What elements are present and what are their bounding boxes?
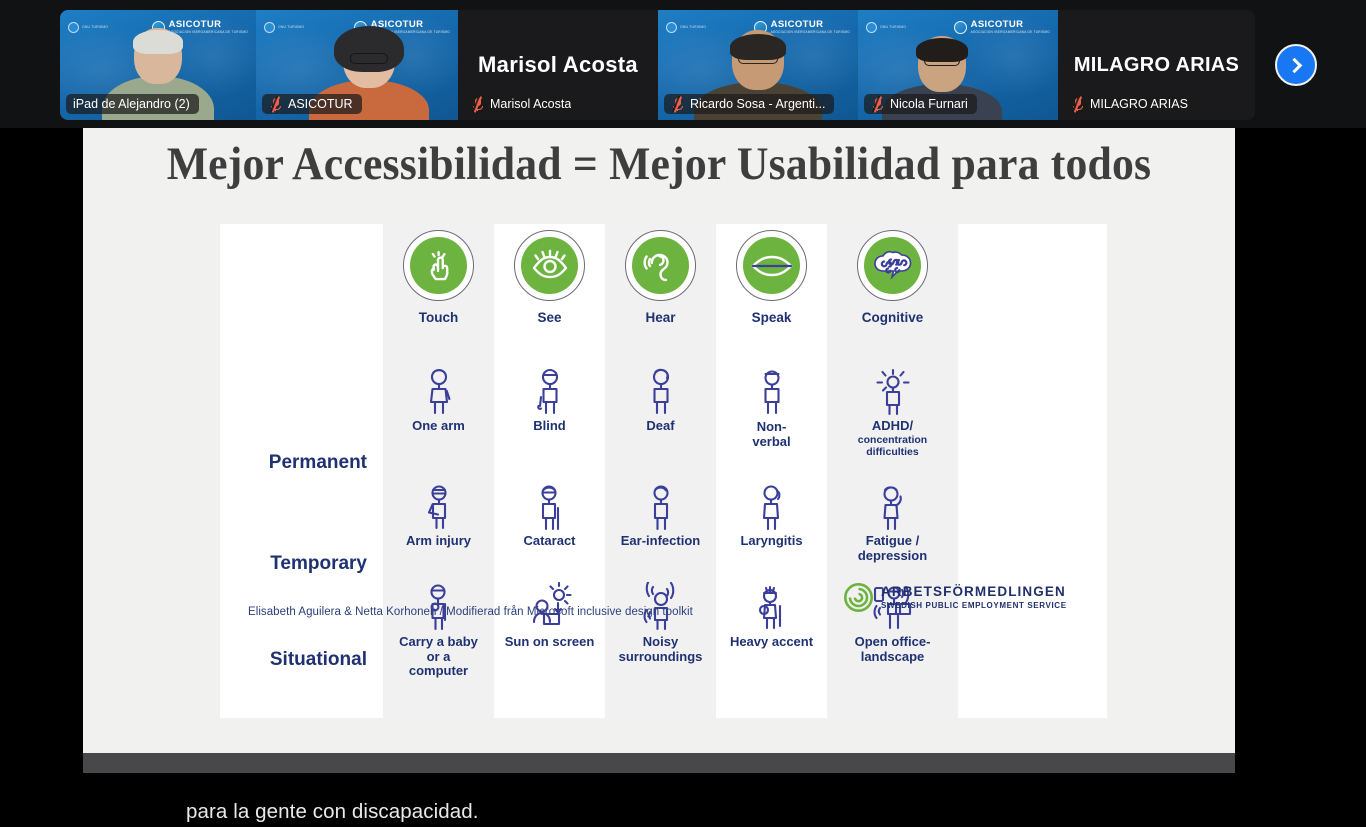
participant-tile-6[interactable]: MILAGRO ARIAS MILAGRO ARIAS bbox=[1058, 10, 1255, 120]
hair-shape bbox=[334, 26, 404, 72]
participant-tile-5[interactable]: ONU TURISMO ASICOTUR ASOCIACION IBEROAME… bbox=[858, 10, 1058, 120]
matrix-column-speak: Speak Non-verbal bbox=[716, 224, 827, 718]
globe-icon bbox=[954, 21, 967, 34]
onu-turismo-logo: ONU TURISMO bbox=[264, 22, 304, 33]
person-cane-icon bbox=[527, 364, 573, 416]
live-caption-text: para la gente con discapacidad. bbox=[186, 800, 479, 824]
arbetsformedlingen-logo: ARBETSFÖRMEDLINGEN SWEDISH PUBLIC EMPLOY… bbox=[844, 583, 1067, 612]
matrix-cell-touch-permanent: One arm bbox=[383, 364, 494, 479]
person-fatigue-icon bbox=[869, 479, 917, 531]
matrix-column-cognitive: Cognitive ADHD/ concentration bbox=[827, 224, 958, 718]
participant-name: Ricardo Sosa - Argenti... bbox=[690, 97, 825, 111]
tile-brand-bar: ONU TURISMO ASICOTUR ASOCIACION IBEROAME… bbox=[858, 10, 1058, 40]
onu-turismo-label: ONU TURISMO bbox=[278, 25, 304, 29]
cell-caption: ADHD/ bbox=[870, 419, 915, 434]
matrix-cell-hear-temporary: Ear-infection bbox=[605, 479, 716, 580]
asicotur-label: ASICOTUR bbox=[771, 20, 850, 30]
logo-name: ARBETSFÖRMEDLINGEN bbox=[881, 585, 1067, 599]
ear-icon bbox=[632, 237, 689, 294]
matrix-cell-touch-temporary: Arm injury bbox=[383, 479, 494, 580]
presentation-slide: Mejor Accessibilidad = Mejor Usabilidad … bbox=[83, 128, 1235, 753]
participant-tile-1[interactable]: ONU TURISMO ASICOTUR ASOCIACION IBEROAME… bbox=[60, 10, 256, 120]
person-one-arm-icon bbox=[416, 364, 462, 416]
category-header: Speak bbox=[736, 224, 807, 364]
participant-name-chip: ASICOTUR bbox=[262, 94, 362, 114]
matrix-cell-see-situational: Sun on screen bbox=[494, 580, 605, 690]
cell-caption: Ear-infection bbox=[619, 534, 702, 549]
cell-caption: Arm injury bbox=[404, 534, 473, 549]
cell-caption: Non-verbal bbox=[750, 419, 792, 450]
category-header: Hear bbox=[625, 224, 696, 364]
onu-turismo-label: ONU TURISMO bbox=[680, 25, 706, 29]
hand-tap-icon bbox=[410, 237, 467, 294]
participant-name: ASICOTUR bbox=[288, 97, 353, 111]
participant-name: MILAGRO ARIAS bbox=[1090, 97, 1188, 111]
slide-bottom-bar bbox=[83, 753, 1235, 773]
globe-icon bbox=[264, 22, 275, 33]
accessibility-matrix: Permanent Temporary Situational bbox=[220, 224, 1107, 718]
row-label-temporary: Temporary bbox=[220, 553, 383, 575]
cell-caption: One arm bbox=[410, 419, 467, 434]
category-label: Cognitive bbox=[862, 310, 924, 325]
participant-name-chip: Marisol Acosta bbox=[464, 94, 580, 114]
participant-name: Marisol Acosta bbox=[490, 97, 571, 111]
participant-name: iPad de Alejandro (2) bbox=[73, 97, 190, 111]
globe-icon bbox=[666, 22, 677, 33]
cell-caption: Deaf bbox=[644, 419, 676, 434]
hair-shape bbox=[133, 30, 183, 54]
asicotur-sublabel: ASOCIACION IBEROAMERICANA DE TURISMO bbox=[169, 30, 248, 34]
slide-title: Mejor Accessibilidad = Mejor Usabilidad … bbox=[123, 137, 1194, 191]
logo-text-block: ARBETSFÖRMEDLINGEN SWEDISH PUBLIC EMPLOY… bbox=[881, 585, 1067, 609]
cell-caption: Sun on screen bbox=[503, 635, 597, 650]
category-label: Touch bbox=[419, 310, 459, 325]
asicotur-logo: ASICOTUR ASOCIACION IBEROAMERICANA DE TU… bbox=[954, 20, 1050, 35]
next-participants-button[interactable] bbox=[1275, 44, 1317, 86]
matrix-cell-cognitive-permanent: ADHD/ concentrationdifficulties bbox=[827, 364, 958, 479]
globe-icon bbox=[866, 22, 877, 33]
chevron-right-icon bbox=[1287, 57, 1303, 73]
globe-icon bbox=[68, 22, 79, 33]
asicotur-label: ASICOTUR bbox=[971, 20, 1050, 30]
logo-tagline: SWEDISH PUBLIC EMPLOYMENT SERVICE bbox=[881, 601, 1067, 610]
person-deaf-icon bbox=[638, 364, 684, 416]
eye-icon bbox=[521, 237, 578, 294]
microphone-muted-icon bbox=[1071, 97, 1084, 111]
participant-name-chip: iPad de Alejandro (2) bbox=[66, 94, 199, 114]
matrix-cell-speak-situational: Heavy accent bbox=[716, 580, 827, 690]
cell-caption: Laryngitis bbox=[738, 534, 804, 549]
row-label-situational: Situational bbox=[220, 649, 383, 671]
category-label: Hear bbox=[645, 310, 675, 325]
microphone-muted-icon bbox=[671, 97, 684, 111]
cell-subcaption: concentrationdifficulties bbox=[858, 434, 927, 458]
category-label: See bbox=[537, 310, 561, 325]
participant-tiles: ONU TURISMO ASICOTUR ASOCIACION IBEROAME… bbox=[60, 10, 1255, 120]
category-header: Cognitive bbox=[857, 224, 928, 364]
participant-name-chip: Nicola Furnari bbox=[864, 94, 977, 114]
matrix-cell-touch-situational: Carry a babyor acomputer bbox=[383, 580, 494, 690]
matrix-cell-hear-situational: Noisysurroundings bbox=[605, 580, 716, 690]
mouth-icon bbox=[743, 237, 800, 294]
matrix-cell-see-temporary: Cataract bbox=[494, 479, 605, 580]
matrix-column-touch: Touch One arm bbox=[383, 224, 494, 718]
matrix-cell-cognitive-temporary: Fatigue /depression bbox=[827, 479, 958, 580]
category-icon-circle bbox=[736, 230, 807, 301]
category-icon-circle bbox=[403, 230, 474, 301]
participant-name-chip: MILAGRO ARIAS bbox=[1064, 94, 1197, 114]
brain-icon bbox=[864, 237, 921, 294]
cell-caption: Open office-landscape bbox=[853, 635, 933, 664]
asicotur-sublabel: ASOCIACION IBEROAMERICANA DE TURISMO bbox=[771, 30, 850, 34]
category-icon-circle bbox=[625, 230, 696, 301]
slide-credit: Elisabeth Aguilera & Netta Korhonen / Mo… bbox=[248, 606, 693, 618]
matrix-cell-speak-temporary: Laryngitis bbox=[716, 479, 827, 580]
cell-caption: Cataract bbox=[521, 534, 577, 549]
glasses-icon bbox=[924, 56, 960, 66]
participant-tile-4[interactable]: ONU TURISMO ASICOTUR ASOCIACION IBEROAME… bbox=[658, 10, 858, 120]
cell-caption: Noisysurroundings bbox=[617, 635, 705, 664]
microphone-muted-icon bbox=[269, 97, 282, 111]
participant-name: Nicola Furnari bbox=[890, 97, 968, 111]
person-adhd-icon bbox=[867, 364, 919, 416]
onu-turismo-logo: ONU TURISMO bbox=[68, 22, 108, 33]
screen-root: ONU TURISMO ASICOTUR ASOCIACION IBEROAME… bbox=[0, 0, 1366, 827]
matrix-column-see: See Blind bbox=[494, 224, 605, 718]
cell-caption: Fatigue /depression bbox=[856, 534, 929, 563]
cell-caption: Heavy accent bbox=[728, 635, 815, 650]
person-heavy-accent-icon bbox=[748, 580, 796, 632]
onu-turismo-label: ONU TURISMO bbox=[82, 25, 108, 29]
onu-turismo-label: ONU TURISMO bbox=[880, 25, 906, 29]
matrix-cell-see-permanent: Blind bbox=[494, 364, 605, 479]
person-ear-infection-icon bbox=[638, 479, 684, 531]
microphone-muted-icon bbox=[871, 97, 884, 111]
category-header: Touch bbox=[403, 224, 474, 364]
glasses-icon bbox=[350, 53, 388, 64]
person-nonverbal-icon bbox=[749, 364, 795, 416]
category-header: See bbox=[514, 224, 585, 364]
person-cataract-icon bbox=[527, 479, 573, 531]
spiral-logo-icon bbox=[844, 583, 873, 612]
cell-caption: Blind bbox=[531, 419, 568, 434]
matrix-cell-speak-permanent: Non-verbal bbox=[716, 364, 827, 479]
participant-name-chip: Ricardo Sosa - Argenti... bbox=[664, 94, 834, 114]
participant-filmstrip: ONU TURISMO ASICOTUR ASOCIACION IBEROAME… bbox=[0, 0, 1366, 128]
matrix-row-labels: Permanent Temporary Situational bbox=[220, 224, 383, 718]
category-icon-circle bbox=[857, 230, 928, 301]
matrix-column-hear: Hear Deaf bbox=[605, 224, 716, 718]
onu-turismo-logo: ONU TURISMO bbox=[866, 22, 906, 33]
participant-tile-2[interactable]: ONU TURISMO ASICOTUR ASOCIACION IBEROAME… bbox=[256, 10, 458, 120]
matrix-cell-hear-permanent: Deaf bbox=[605, 364, 716, 479]
row-label-permanent: Permanent bbox=[220, 452, 383, 474]
participant-tile-3[interactable]: Marisol Acosta Marisol Acosta bbox=[458, 10, 658, 120]
category-icon-circle bbox=[514, 230, 585, 301]
person-laryngitis-icon bbox=[749, 479, 795, 531]
asicotur-label: ASICOTUR bbox=[169, 20, 248, 30]
person-arm-sling-icon bbox=[416, 479, 462, 531]
cell-caption: Carry a babyor acomputer bbox=[397, 635, 480, 679]
glasses-icon bbox=[738, 53, 778, 64]
microphone-muted-icon bbox=[471, 97, 484, 111]
category-label: Speak bbox=[752, 310, 792, 325]
shared-screen-area: Mejor Accessibilidad = Mejor Usabilidad … bbox=[83, 128, 1235, 773]
onu-turismo-logo: ONU TURISMO bbox=[666, 22, 706, 33]
asicotur-sublabel: ASOCIACION IBEROAMERICANA DE TURISMO bbox=[971, 30, 1050, 34]
